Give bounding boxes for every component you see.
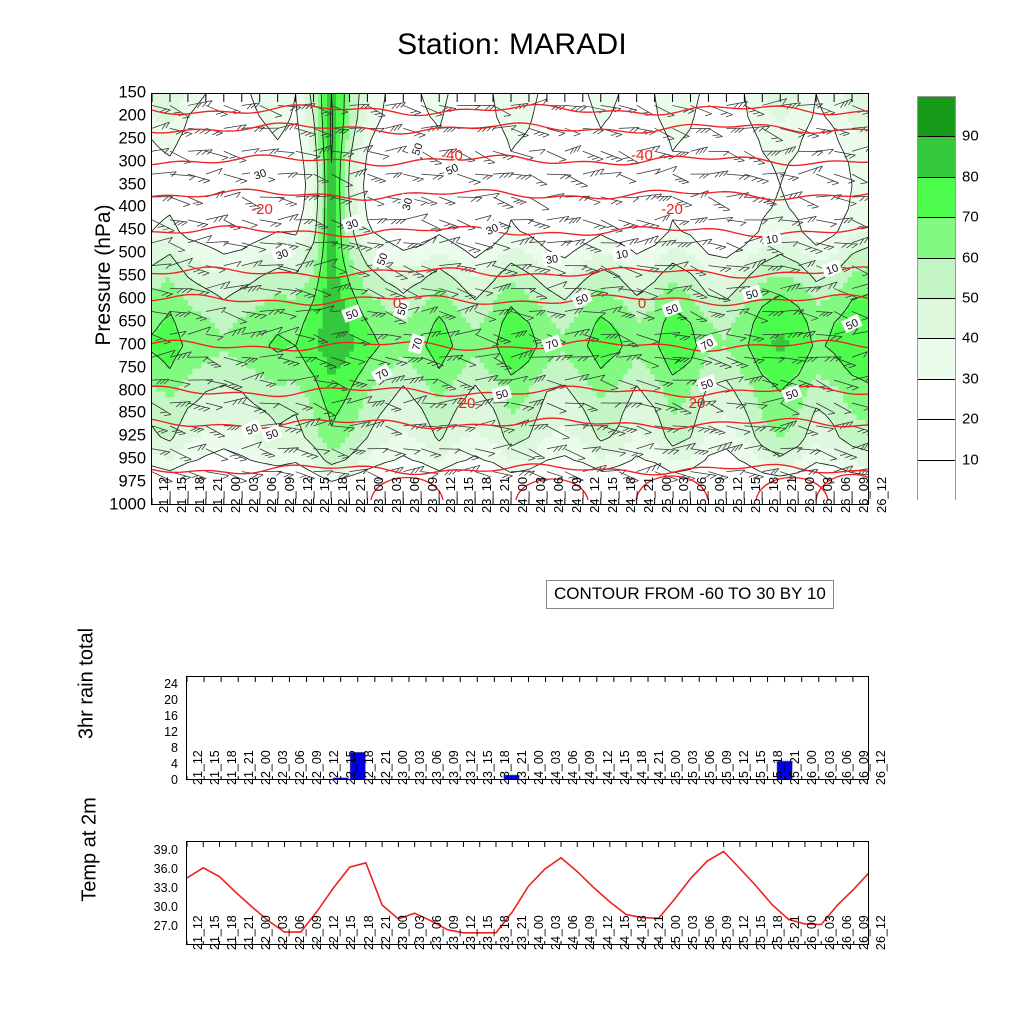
contour-label: -40 (631, 147, 653, 164)
x-axis-tick-label: 21_12 (191, 915, 205, 950)
pressure-tick-label: 850 (66, 404, 146, 423)
x-axis-tick-label: 25_18 (771, 750, 785, 785)
x-axis-tick-label: 21_21 (242, 915, 256, 950)
colorbar-band (918, 259, 955, 299)
x-axis-tick-label: 22_09 (310, 915, 324, 950)
rain-tick-label: 8 (171, 741, 178, 755)
x-axis-tick-label: 24_18 (635, 750, 649, 785)
colorbar-tick-label: 80 (962, 168, 979, 185)
pressure-tick-label: 925 (66, 427, 146, 446)
x-axis-tick-label: 21_18 (225, 750, 239, 785)
x-axis-tick-label: 24_06 (551, 477, 566, 513)
x-axis-tick-label: 25_15 (748, 477, 763, 513)
pressure-tick-label: 950 (66, 450, 146, 469)
x-axis-tick-label: 25_03 (686, 915, 700, 950)
temp-tick-label: 27.0 (154, 919, 178, 933)
colorbar-tick-label: 20 (962, 411, 979, 428)
x-axis-tick-label: 25_00 (669, 915, 683, 950)
x-axis-tick-label: 24_06 (566, 750, 580, 785)
x-axis-tick-label: 23_15 (461, 477, 476, 513)
x-axis-tick-label: 26_12 (874, 477, 889, 513)
x-axis-tick-label: 26_00 (802, 477, 817, 513)
x-axis-tick-label: 23_03 (413, 915, 427, 950)
contour-label: 30 (481, 219, 503, 239)
pressure-tick-label: 800 (66, 381, 146, 400)
colorbar (917, 96, 956, 500)
colorbar-tick-label: 60 (962, 249, 979, 266)
x-axis-tick-label: 23_15 (481, 750, 495, 785)
colorbar-band (918, 137, 955, 177)
x-axis-tick-label: 26_06 (840, 750, 854, 785)
colorbar-labels: 908070605040302010 (962, 96, 1012, 500)
x-axis-tick-label: 24_00 (515, 477, 530, 513)
x-axis-tick-label: 24_09 (583, 750, 597, 785)
x-axis-tick-label: 23_00 (396, 750, 410, 785)
x-axis-tick-label: 22_15 (344, 750, 358, 785)
pressure-tick-label: 1000 (66, 496, 146, 515)
temp-x-axis-labels: 21_1221_1521_1821_2122_0022_0322_0622_09… (186, 948, 869, 1008)
x-axis-tick-label: 26_06 (838, 477, 853, 513)
x-axis-tick-label: 22_21 (379, 750, 393, 785)
colorbar-band (918, 97, 955, 137)
x-axis-tick-label: 23_12 (464, 750, 478, 785)
x-axis-tick-label: 24_18 (635, 915, 649, 950)
temp-tick-label: 33.0 (154, 881, 178, 895)
x-axis-tick-label: 24_12 (601, 915, 615, 950)
x-axis-tick-label: 25_21 (788, 750, 802, 785)
contour-label: 20 (459, 395, 476, 412)
x-axis-tick-label: 23_21 (515, 915, 529, 950)
temp-tick-label: 36.0 (154, 862, 178, 876)
temp-tick-label: 30.0 (154, 900, 178, 914)
x-axis-tick-label: 26_12 (874, 750, 888, 785)
x-axis-tick-label: 22_18 (362, 915, 376, 950)
x-axis-tick-label: 23_09 (425, 477, 440, 513)
x-axis-tick-label: 25_00 (669, 750, 683, 785)
colorbar-band (918, 339, 955, 379)
temp-y-axis: 27.030.033.036.039.0 (110, 841, 182, 945)
pressure-tick-label: 200 (66, 106, 146, 125)
pressure-tick-label: 450 (66, 221, 146, 240)
x-axis-tick-label: 26_00 (805, 915, 819, 950)
contour-label: -40 (441, 147, 463, 164)
colorbar-tick-label: 90 (962, 128, 979, 145)
pressure-tick-label: 550 (66, 267, 146, 286)
x-axis-tick-label: 25_03 (686, 750, 700, 785)
x-axis-tick-label: 24_12 (601, 750, 615, 785)
x-axis-tick-label: 21_18 (225, 915, 239, 950)
x-axis-tick-label: 25_06 (694, 477, 709, 513)
x-axis-tick-label: 26_03 (823, 750, 837, 785)
contour-label: -20 (251, 201, 273, 218)
x-axis-tick-label: 23_18 (498, 915, 512, 950)
x-axis-tick-label: 24_09 (569, 477, 584, 513)
x-axis-tick-label: 23_06 (430, 750, 444, 785)
x-axis-tick-label: 21_12 (191, 750, 205, 785)
x-axis-tick-label: 24_21 (652, 750, 666, 785)
x-axis-tick-label: 25_21 (788, 915, 802, 950)
pressure-tick-label: 750 (66, 358, 146, 377)
x-axis-tick-label: 22_06 (293, 750, 307, 785)
x-axis-tick-label: 21_15 (208, 915, 222, 950)
x-axis-tick-label: 23_03 (413, 750, 427, 785)
pressure-tick-label: 700 (66, 335, 146, 354)
x-axis-tick-label: 24_09 (583, 915, 597, 950)
rain-y-axis: 04812162024 (120, 676, 182, 780)
rain-panel-title: 3hr rain total (76, 594, 99, 774)
x-axis-tick-label: 23_00 (371, 477, 386, 513)
x-axis-tick-label: 23_12 (443, 477, 458, 513)
x-axis-tick-label: 22_09 (310, 750, 324, 785)
x-axis-tick-label: 21_21 (210, 477, 225, 513)
x-axis-tick-label: 23_09 (447, 750, 461, 785)
x-axis-tick-label: 25_18 (771, 915, 785, 950)
contour-plot: 3050503030503030505070707070505050505050… (152, 94, 869, 505)
x-axis-tick-label: 22_18 (362, 750, 376, 785)
x-axis-tick-label: 22_21 (379, 915, 393, 950)
x-axis-tick-label: 23_06 (407, 477, 422, 513)
pressure-tick-label: 150 (66, 84, 146, 103)
contour-caption: CONTOUR FROM -60 TO 30 BY 10 (546, 580, 834, 609)
x-axis-tick-label: 26_12 (874, 915, 888, 950)
x-axis-tick-label: 21_12 (156, 477, 171, 513)
pressure-tick-label: 650 (66, 312, 146, 331)
rain-tick-label: 16 (164, 709, 178, 723)
x-axis-tick-label: 22_06 (293, 915, 307, 950)
pressure-tick-label: 250 (66, 129, 146, 148)
x-axis-tick-label: 24_00 (532, 915, 546, 950)
x-axis-tick-label: 23_21 (515, 750, 529, 785)
x-axis-tick-label: 24_21 (652, 915, 666, 950)
colorbar-tick-label: 10 (962, 451, 979, 468)
x-axis-tick-label: 22_12 (327, 915, 341, 950)
rain-tick-label: 20 (164, 693, 178, 707)
rain-tick-label: 4 (171, 757, 178, 771)
x-axis-tick-label: 25_15 (754, 915, 768, 950)
x-axis-tick-label: 25_15 (754, 750, 768, 785)
x-axis-tick-label: 22_03 (276, 915, 290, 950)
contour-label: 30 (398, 193, 416, 214)
x-axis-tick-label: 24_15 (618, 750, 632, 785)
pressure-tick-label: 600 (66, 290, 146, 309)
x-axis-tick-label: 24_03 (533, 477, 548, 513)
page-title: Station: MARADI (0, 28, 1024, 62)
x-axis-tick-label: 26_03 (820, 477, 835, 513)
colorbar-band (918, 299, 955, 339)
x-axis-tick-label: 22_00 (259, 750, 273, 785)
colorbar-band (918, 461, 955, 501)
x-axis-tick-label: 24_03 (549, 915, 563, 950)
x-axis-tick-label: 25_00 (659, 477, 674, 513)
pressure-tick-label: 350 (66, 175, 146, 194)
x-axis-tick-label: 25_12 (737, 750, 751, 785)
colorbar-band (918, 218, 955, 258)
x-axis-tick-label: 26_03 (823, 915, 837, 950)
x-axis-tick-label: 22_03 (276, 750, 290, 785)
x-axis-tick-label: 22_09 (282, 477, 297, 513)
pressure-tick-label: 975 (66, 473, 146, 492)
contour-label: 0 (638, 295, 646, 312)
x-axis-tick-label: 23_03 (389, 477, 404, 513)
rain-tick-label: 24 (164, 677, 178, 691)
x-axis-tick-label: 22_03 (246, 477, 261, 513)
colorbar-band (918, 380, 955, 420)
x-axis-tick-label: 23_18 (479, 477, 494, 513)
x-axis-tick-label: 24_03 (549, 750, 563, 785)
main-x-axis-labels: 21_1221_1521_1821_2122_0022_0322_0622_09… (151, 511, 869, 571)
temp-panel-title: Temp at 2m (79, 755, 102, 945)
x-axis-tick-label: 25_06 (703, 750, 717, 785)
x-axis-tick-label: 25_18 (766, 477, 781, 513)
x-axis-tick-label: 23_00 (396, 915, 410, 950)
rain-tick-label: 12 (164, 725, 178, 739)
contour-label: 30 (249, 164, 271, 183)
pressure-axis: Pressure (hPa) 1502002503003504004505005… (60, 93, 146, 505)
x-axis-tick-label: 21_15 (174, 477, 189, 513)
colorbar-tick-label: 70 (962, 209, 979, 226)
colorbar-tick-label: 40 (962, 330, 979, 347)
x-axis-tick-label: 24_15 (618, 915, 632, 950)
x-axis-tick-label: 22_21 (353, 477, 368, 513)
pressure-tick-label: 400 (66, 198, 146, 217)
x-axis-tick-label: 23_21 (497, 477, 512, 513)
x-axis-tick-label: 24_21 (641, 477, 656, 513)
x-axis-tick-label: 24_12 (587, 477, 602, 513)
x-axis-tick-label: 25_12 (737, 915, 751, 950)
x-axis-tick-label: 25_03 (676, 477, 691, 513)
pressure-tick-label: 500 (66, 244, 146, 263)
x-axis-tick-label: 26_06 (840, 915, 854, 950)
colorbar-band (918, 178, 955, 218)
x-axis-tick-label: 22_00 (228, 477, 243, 513)
x-axis-tick-label: 25_12 (730, 477, 745, 513)
x-axis-tick-label: 26_09 (857, 915, 871, 950)
x-axis-tick-label: 22_12 (300, 477, 315, 513)
x-axis-tick-label: 22_12 (327, 750, 341, 785)
temp-tick-label: 39.0 (154, 843, 178, 857)
x-axis-tick-label: 23_12 (464, 915, 478, 950)
x-axis-tick-label: 21_21 (242, 750, 256, 785)
colorbar-tick-label: 50 (962, 290, 979, 307)
x-axis-tick-label: 26_09 (856, 477, 871, 513)
x-axis-tick-label: 22_15 (344, 915, 358, 950)
x-axis-tick-label: 22_15 (317, 477, 332, 513)
colorbar-tick-label: 30 (962, 370, 979, 387)
rain-tick-label: 0 (171, 773, 178, 787)
x-axis-tick-label: 25_06 (703, 915, 717, 950)
x-axis-tick-label: 24_06 (566, 915, 580, 950)
contour-label: -20 (661, 201, 683, 218)
x-axis-tick-label: 23_15 (481, 915, 495, 950)
x-axis-tick-label: 21_18 (192, 477, 207, 513)
contour-label: 0 (393, 295, 401, 312)
x-axis-tick-label: 26_09 (857, 750, 871, 785)
x-axis-tick-label: 25_21 (784, 477, 799, 513)
x-axis-tick-label: 23_09 (447, 915, 461, 950)
x-axis-tick-label: 24_00 (532, 750, 546, 785)
x-axis-tick-label: 25_09 (720, 750, 734, 785)
x-axis-tick-label: 23_06 (430, 915, 444, 950)
x-axis-tick-label: 24_18 (623, 477, 638, 513)
x-axis-tick-label: 21_15 (208, 750, 222, 785)
x-axis-tick-label: 22_18 (335, 477, 350, 513)
x-axis-tick-label: 25_09 (720, 915, 734, 950)
colorbar-band (918, 420, 955, 460)
x-axis-tick-label: 24_15 (605, 477, 620, 513)
x-axis-tick-label: 26_00 (805, 750, 819, 785)
contour-label: 20 (689, 395, 706, 412)
x-axis-tick-label: 22_06 (264, 477, 279, 513)
contour-label: 50 (407, 138, 426, 160)
x-axis-tick-label: 23_18 (498, 750, 512, 785)
x-axis-tick-label: 25_09 (712, 477, 727, 513)
pressure-tick-label: 300 (66, 152, 146, 171)
contour-panel: 3050503030503030505070707070505050505050… (151, 93, 869, 505)
x-axis-tick-label: 22_00 (259, 915, 273, 950)
rain-x-axis-labels: 21_1221_1521_1821_2122_0022_0322_0622_09… (186, 783, 869, 843)
